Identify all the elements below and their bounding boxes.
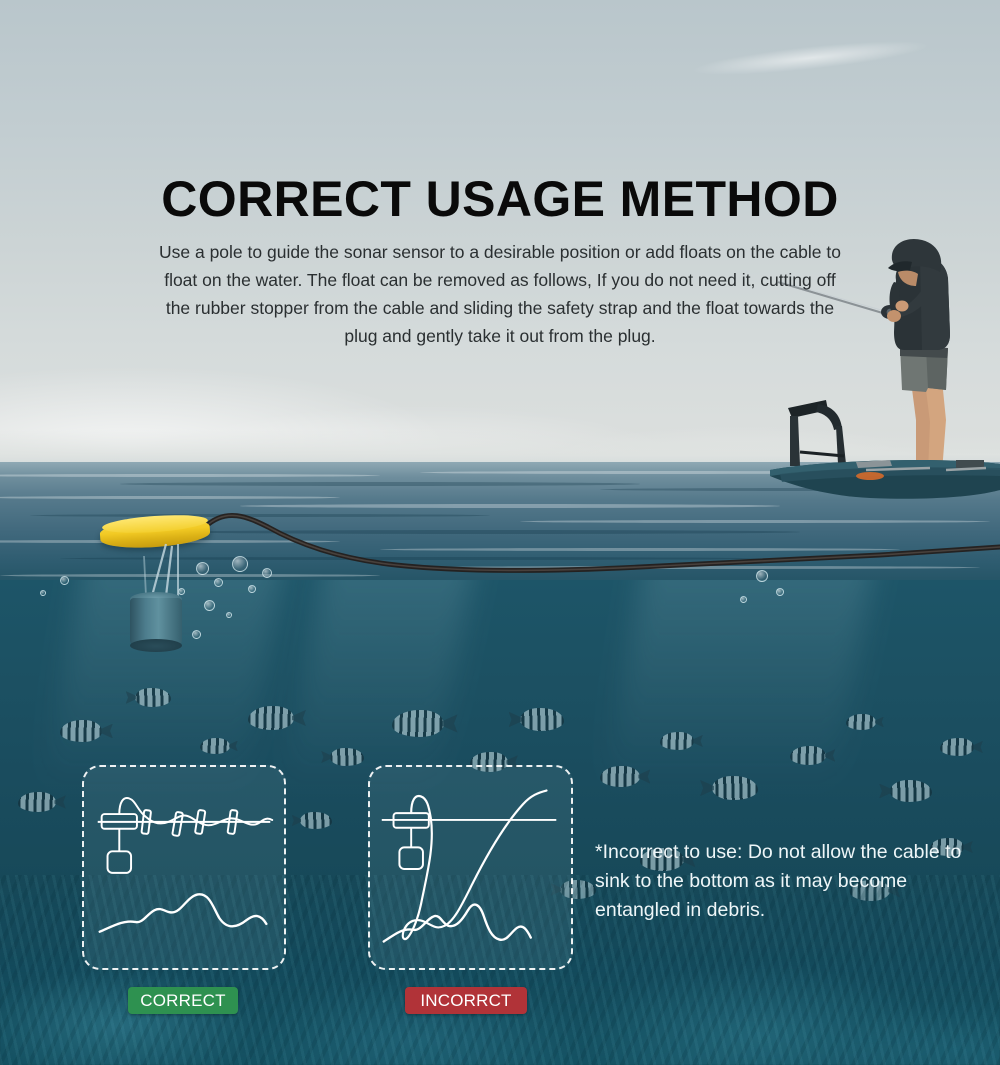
badge-incorrect: INCORRCT xyxy=(405,987,527,1014)
diagram-correct-illustration xyxy=(84,767,284,968)
diagram-correct xyxy=(82,765,286,970)
product-infographic: CORRECT USAGE METHOD Use a pole to guide… xyxy=(0,0,1000,1065)
angler-hand-front xyxy=(896,301,909,312)
angler-hand-back xyxy=(887,310,901,322)
page-title: CORRECT USAGE METHOD xyxy=(0,170,1000,228)
incorrect-usage-caption: *Incorrect to use: Do not allow the cabl… xyxy=(595,838,973,925)
trolling-motor-shaft xyxy=(790,416,800,466)
sonar-sensor-bottom xyxy=(130,639,182,652)
diagram-incorrect xyxy=(368,765,573,970)
badge-correct: CORRECT xyxy=(128,987,238,1014)
page-description: Use a pole to guide the sonar sensor to … xyxy=(150,238,850,350)
cap-brim xyxy=(888,261,912,271)
diagram-incorrect-illustration xyxy=(370,767,571,968)
